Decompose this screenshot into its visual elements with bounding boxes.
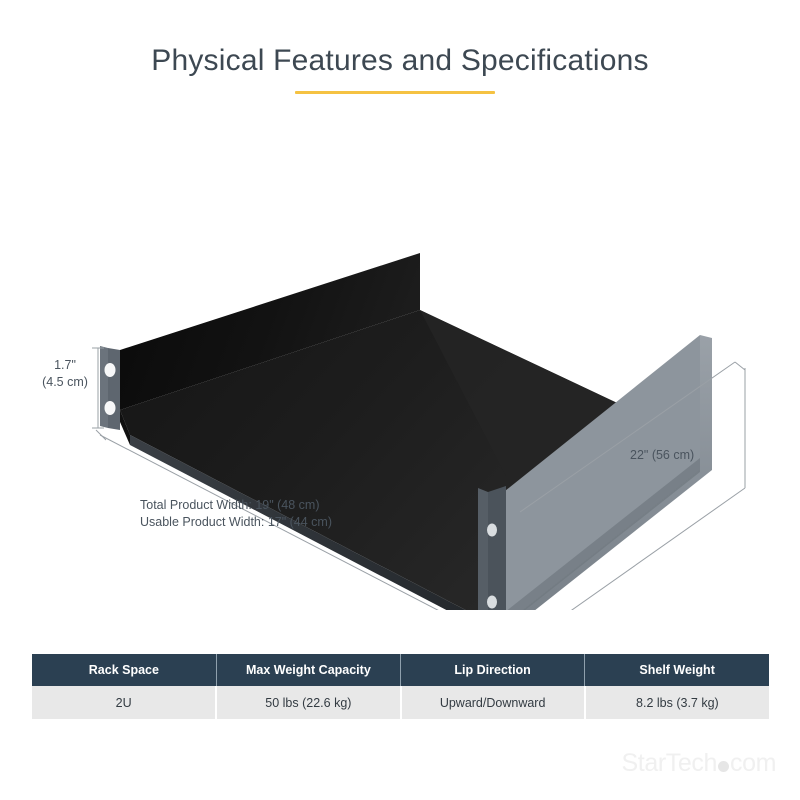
dimension-label-height: 1.7" (4.5 cm) [36,357,94,391]
watermark-text-startech: StarTech [622,749,717,777]
watermark-text-com: com [730,749,776,777]
table-header-row: Rack Space Max Weight Capacity Lip Direc… [32,654,769,686]
startech-watermark-logo: StarTechcom [622,749,777,778]
dimension-usable-width: Usable Product Width: 17" (44 cm) [140,514,332,531]
left-mounting-bracket [100,346,120,430]
right-mounting-bracket [478,486,506,610]
specifications-table: Rack Space Max Weight Capacity Lip Direc… [32,654,769,719]
cell-rack-space: 2U [32,686,216,719]
right-bracket-hole-top [487,524,497,537]
dimension-total-width: Total Product Width: 19" (48 cm) [140,497,332,514]
title-underline-accent [295,91,495,94]
rack-shelf-drawing [0,140,800,610]
watermark-dot-icon [718,761,729,772]
product-illustration [0,140,800,610]
left-bracket-hole-bottom [105,401,116,415]
page-title: Physical Features and Specifications [0,44,800,78]
dimension-height-metric: (4.5 cm) [36,374,94,391]
dimension-label-depth: 22" (56 cm) [630,447,694,464]
column-header-rack-space: Rack Space [32,654,216,686]
table-row: 2U 50 lbs (22.6 kg) Upward/Downward 8.2 … [32,686,769,719]
right-bracket-hole-bottom [487,596,497,609]
column-header-max-weight-capacity: Max Weight Capacity [216,654,400,686]
cell-max-weight-capacity: 50 lbs (22.6 kg) [216,686,400,719]
dimension-label-width: Total Product Width: 19" (48 cm) Usable … [140,497,332,531]
left-bracket-hole-top [105,363,116,377]
dimension-height-value: 1.7" [36,357,94,374]
column-header-shelf-weight: Shelf Weight [585,654,769,686]
cell-lip-direction: Upward/Downward [401,686,585,719]
column-header-lip-direction: Lip Direction [401,654,585,686]
cell-shelf-weight: 8.2 lbs (3.7 kg) [585,686,769,719]
